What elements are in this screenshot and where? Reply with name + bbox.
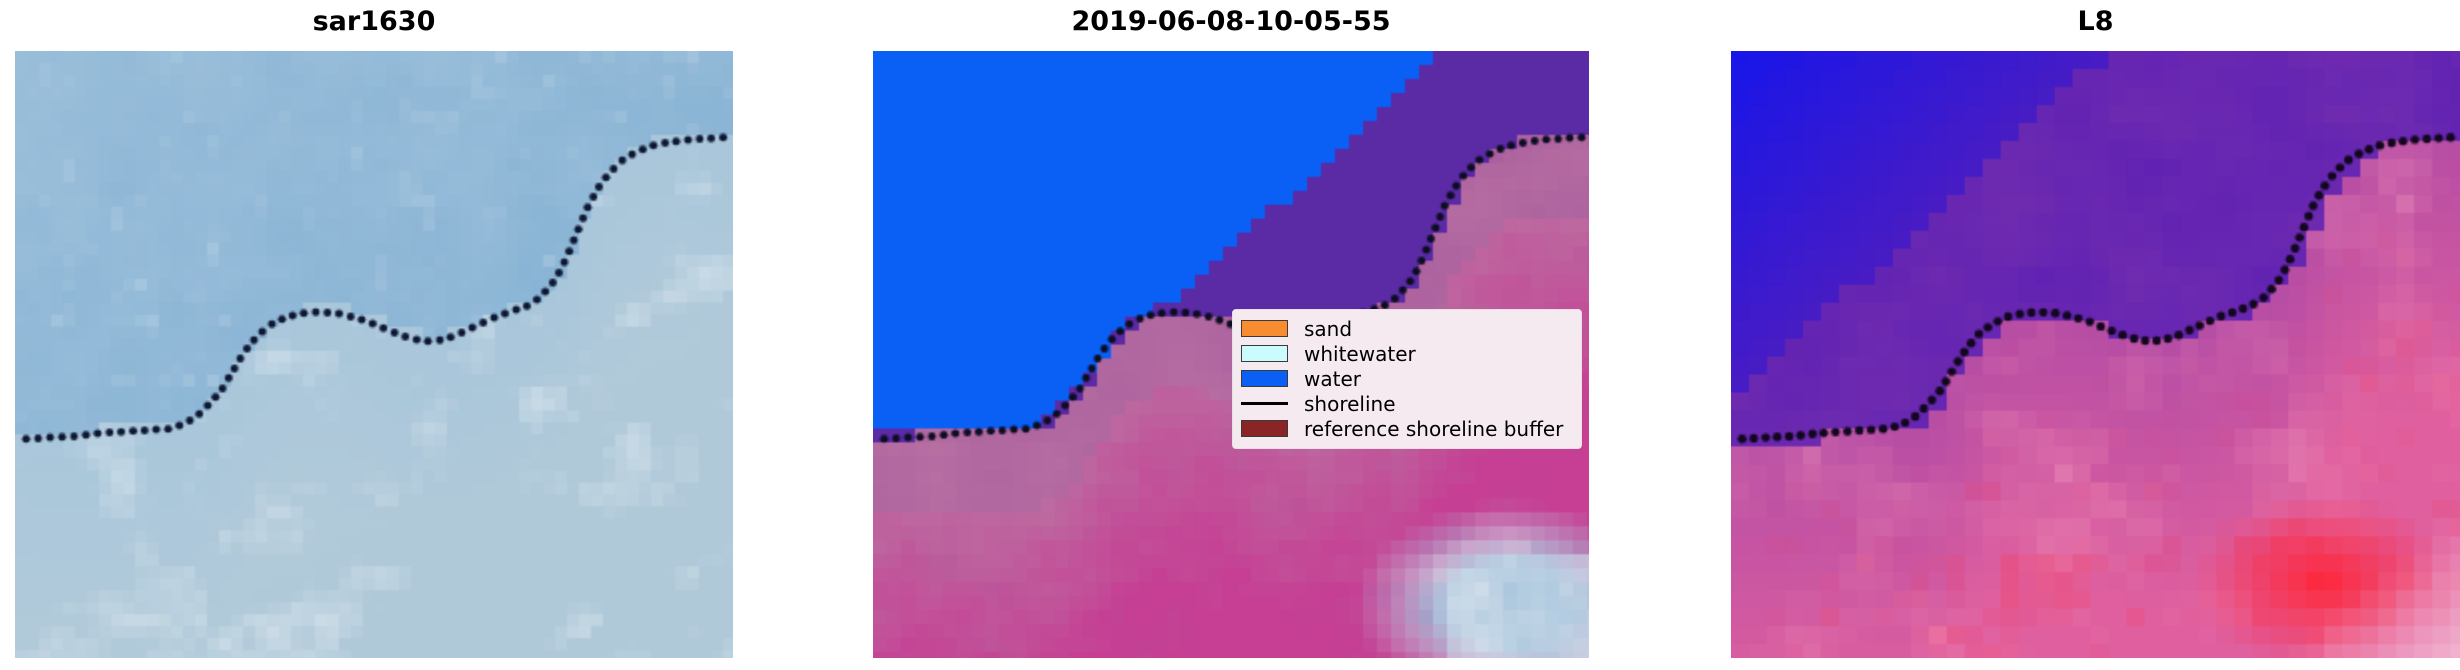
image-l8[interactable] [1731, 51, 2460, 658]
legend-swatch-shoreline [1241, 402, 1288, 405]
legend-item-reference-shoreline-buffer[interactable]: reference shoreline buffer [1241, 416, 1573, 441]
legend-swatch-whitewater [1241, 345, 1288, 362]
figure-canvas: sar1630 2019-06-08-10-05-55 sand whitewa… [0, 0, 2460, 670]
panel-l8: L8 [1731, 0, 2460, 670]
legend-swatch-sand [1241, 320, 1288, 337]
legend-swatch-reference-shoreline-buffer [1241, 420, 1288, 437]
legend-label-shoreline: shoreline [1304, 392, 1396, 416]
panel-title-3: L8 [1731, 0, 2460, 44]
legend-label-sand: sand [1304, 317, 1352, 341]
panel-title-1: sar1630 [15, 0, 733, 44]
legend-swatch-water [1241, 370, 1288, 387]
panel-sar1630: sar1630 [15, 0, 733, 670]
image-sar1630[interactable] [15, 51, 733, 658]
panel-classification: 2019-06-08-10-05-55 sand whitewater wate… [873, 0, 1589, 670]
legend-item-water[interactable]: water [1241, 366, 1573, 391]
legend: sand whitewater water shoreline referenc… [1232, 309, 1582, 449]
legend-item-sand[interactable]: sand [1241, 316, 1573, 341]
legend-label-whitewater: whitewater [1304, 342, 1416, 366]
legend-item-whitewater[interactable]: whitewater [1241, 341, 1573, 366]
legend-label-reference-shoreline-buffer: reference shoreline buffer [1304, 417, 1563, 441]
legend-item-shoreline[interactable]: shoreline [1241, 391, 1573, 416]
panel-title-2: 2019-06-08-10-05-55 [873, 0, 1589, 44]
legend-label-water: water [1304, 367, 1361, 391]
